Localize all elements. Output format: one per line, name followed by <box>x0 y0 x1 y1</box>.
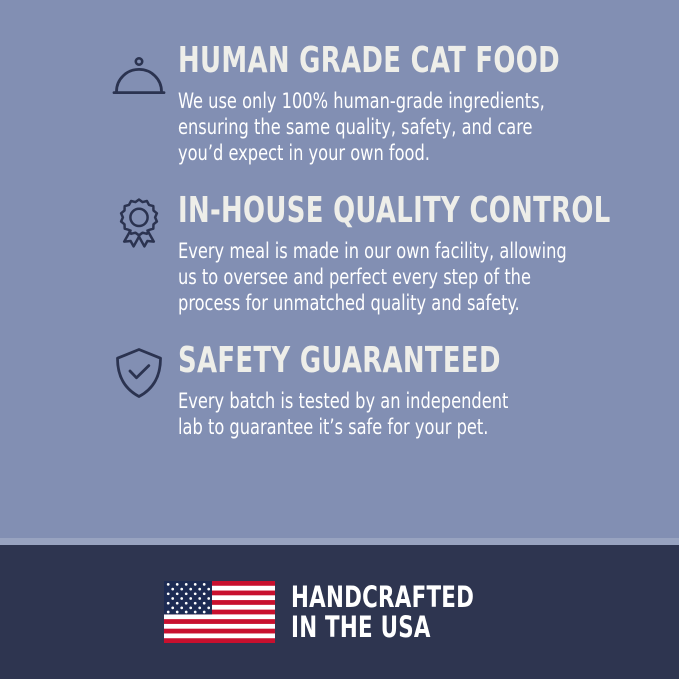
footer-line-2: IN THE USA <box>291 612 474 642</box>
features-section: HUMAN GRADE CAT FOOD We use only 100% hu… <box>0 0 679 545</box>
feature-description: Every meal is made in our own facility, … <box>178 238 571 316</box>
feature-block-safety-guaranteed: SAFETY GUARANTEED Every batch is tested … <box>0 342 679 440</box>
footer-banner: HANDCRAFTED IN THE USA <box>0 545 679 679</box>
feature-title: SAFETY GUARANTEED <box>178 342 501 380</box>
footer-line-1: HANDCRAFTED <box>291 582 474 612</box>
shield-check-icon <box>110 344 168 402</box>
promo-poster: HUMAN GRADE CAT FOOD We use only 100% hu… <box>0 0 679 679</box>
footer-heading: HANDCRAFTED IN THE USA <box>291 582 474 642</box>
feature-title: HUMAN GRADE CAT FOOD <box>178 42 544 80</box>
feature-block-human-grade: HUMAN GRADE CAT FOOD We use only 100% hu… <box>0 42 679 166</box>
feature-title: IN-HOUSE QUALITY CONTROL <box>178 192 544 230</box>
feature-block-quality-control: IN-HOUSE QUALITY CONTROL Every meal is m… <box>0 192 679 316</box>
feature-description: We use only 100% human-grade ingredients… <box>178 88 571 166</box>
feature-description: Every batch is tested by an independent … <box>178 388 525 440</box>
award-rosette-icon <box>110 194 168 252</box>
cloche-icon <box>110 48 168 106</box>
feature-content: IN-HOUSE QUALITY CONTROL Every meal is m… <box>178 192 635 316</box>
feature-content: SAFETY GUARANTEED Every batch is tested … <box>178 342 581 440</box>
separator-band <box>0 538 679 545</box>
feature-content: HUMAN GRADE CAT FOOD We use only 100% hu… <box>178 42 635 166</box>
usa-flag-icon <box>164 581 275 643</box>
